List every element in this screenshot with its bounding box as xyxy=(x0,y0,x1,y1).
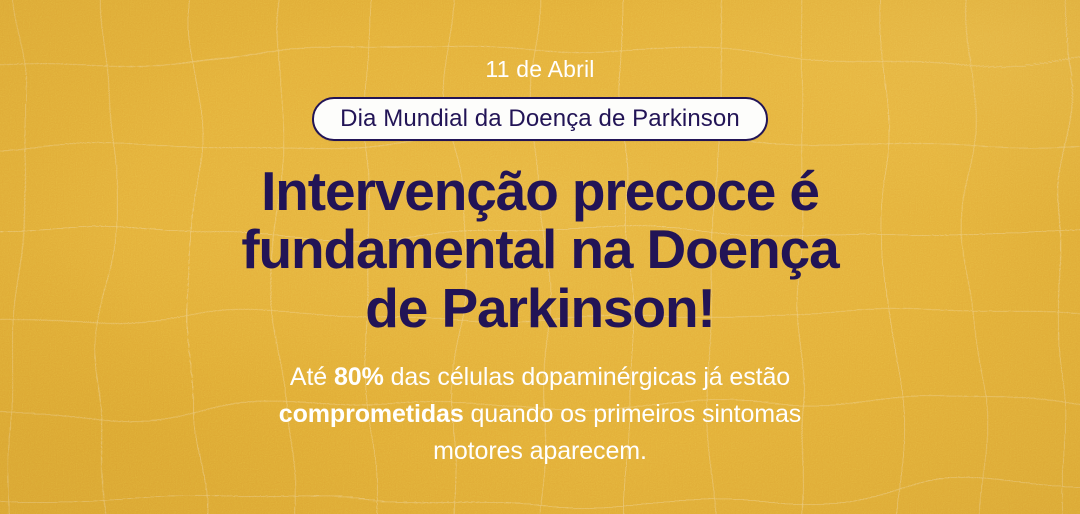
date-eyebrow: 11 de Abril xyxy=(485,58,594,81)
parkinson-awareness-banner: 11 de Abril Dia Mundial da Doença de Par… xyxy=(0,0,1080,514)
subtitle-line-2: comprometidas quando os primeiros sintom… xyxy=(279,396,801,433)
banner-content: 11 de Abril Dia Mundial da Doença de Par… xyxy=(0,0,1080,514)
headline-line-1: Intervenção precoce é xyxy=(241,162,838,220)
subtitle-percentage-highlight: 80% xyxy=(334,363,384,391)
awareness-day-pill: Dia Mundial da Doença de Parkinson xyxy=(312,97,768,141)
page-title: Intervenção precoce é fundamental na Doe… xyxy=(241,162,838,337)
statistic-subtitle: Até 80% das células dopaminérgicas já es… xyxy=(279,359,801,470)
awareness-day-pill-label: Dia Mundial da Doença de Parkinson xyxy=(340,107,740,131)
subtitle-line-1-prefix: Até xyxy=(290,363,334,391)
subtitle-line-1-suffix: das células dopaminérgicas já estão xyxy=(384,363,790,391)
headline-line-3: de Parkinson! xyxy=(241,279,838,337)
subtitle-comprometidas-highlight: comprometidas xyxy=(279,400,464,428)
headline-line-2: fundamental na Doença xyxy=(241,220,838,278)
subtitle-line-2-suffix: quando os primeiros sintomas xyxy=(464,400,802,428)
subtitle-line-1: Até 80% das células dopaminérgicas já es… xyxy=(279,359,801,396)
subtitle-line-3: motores aparecem. xyxy=(279,433,801,470)
